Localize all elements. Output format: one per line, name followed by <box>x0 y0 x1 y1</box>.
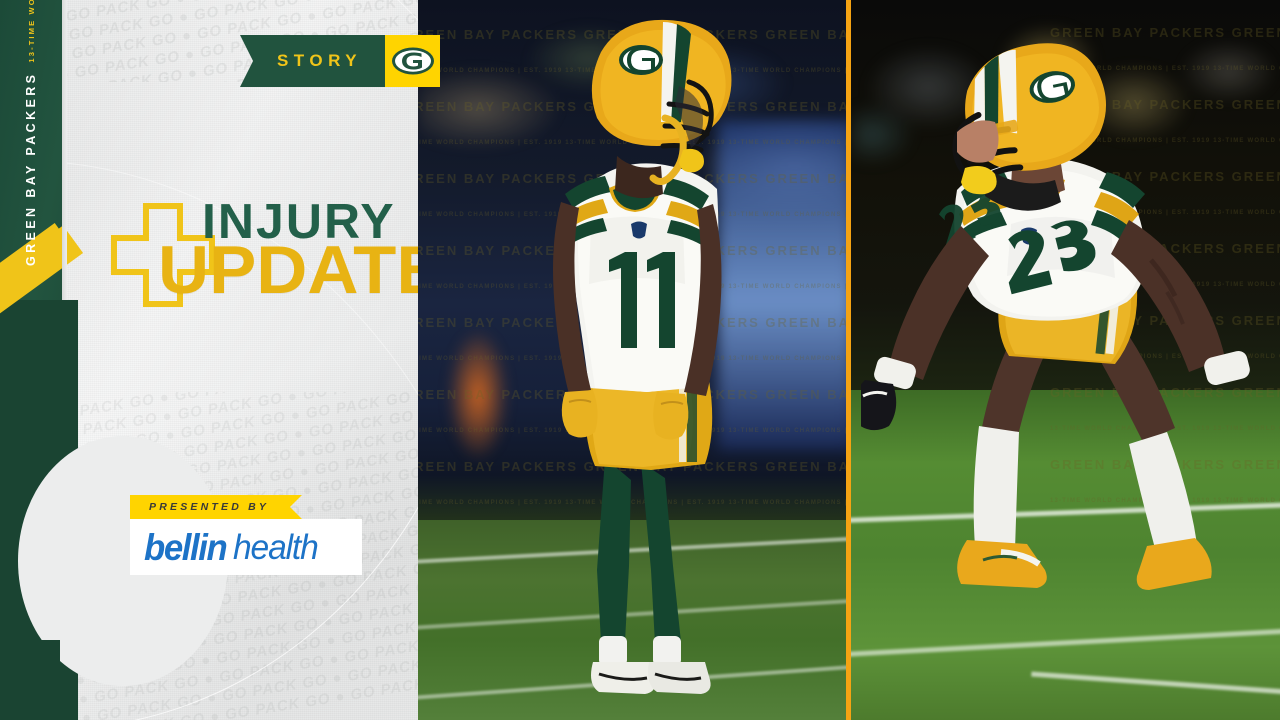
headline-text-group: INJURY UPDATE <box>202 200 418 300</box>
graphic-canvas: GO PACK GO ● GO PACK GO ● GO PACK GO ● G… <box>0 0 1280 720</box>
presented-by-banner: PRESENTED BY <box>130 495 302 519</box>
sponsor-lockup: PRESENTED BY bellin health <box>130 495 362 575</box>
rail-foot <box>0 640 60 720</box>
story-banner: STORY <box>240 35 440 87</box>
bellin-wordmark: bellin <box>144 529 226 566</box>
presented-by-label: PRESENTED BY <box>149 501 269 513</box>
player-photo-right: GREEN BAY PACKERS GREEN BAY PACKERS GREE… <box>851 0 1280 720</box>
player-photo-left: GREEN BAY PACKERS GREEN BAY PACKERS GREE… <box>418 0 846 720</box>
bellin-health-logo: bellin health <box>130 519 362 575</box>
health-wordmark: health <box>233 530 318 565</box>
packers-g-logo <box>391 46 435 76</box>
player-figure-23 <box>861 40 1280 700</box>
blurred-sideline-light <box>448 330 508 460</box>
photo-divider <box>846 0 851 720</box>
story-flag: STORY <box>240 35 385 87</box>
injury-update-lockup: INJURY UPDATE <box>96 196 418 346</box>
left-graphic-panel: GO PACK GO ● GO PACK GO ● GO PACK GO ● G… <box>0 0 418 720</box>
player-figure-11 <box>513 10 763 720</box>
packers-g-logo-box <box>385 35 440 87</box>
story-label: STORY <box>277 51 362 71</box>
headline-update: UPDATE <box>158 241 418 299</box>
rail-edge <box>62 0 67 300</box>
